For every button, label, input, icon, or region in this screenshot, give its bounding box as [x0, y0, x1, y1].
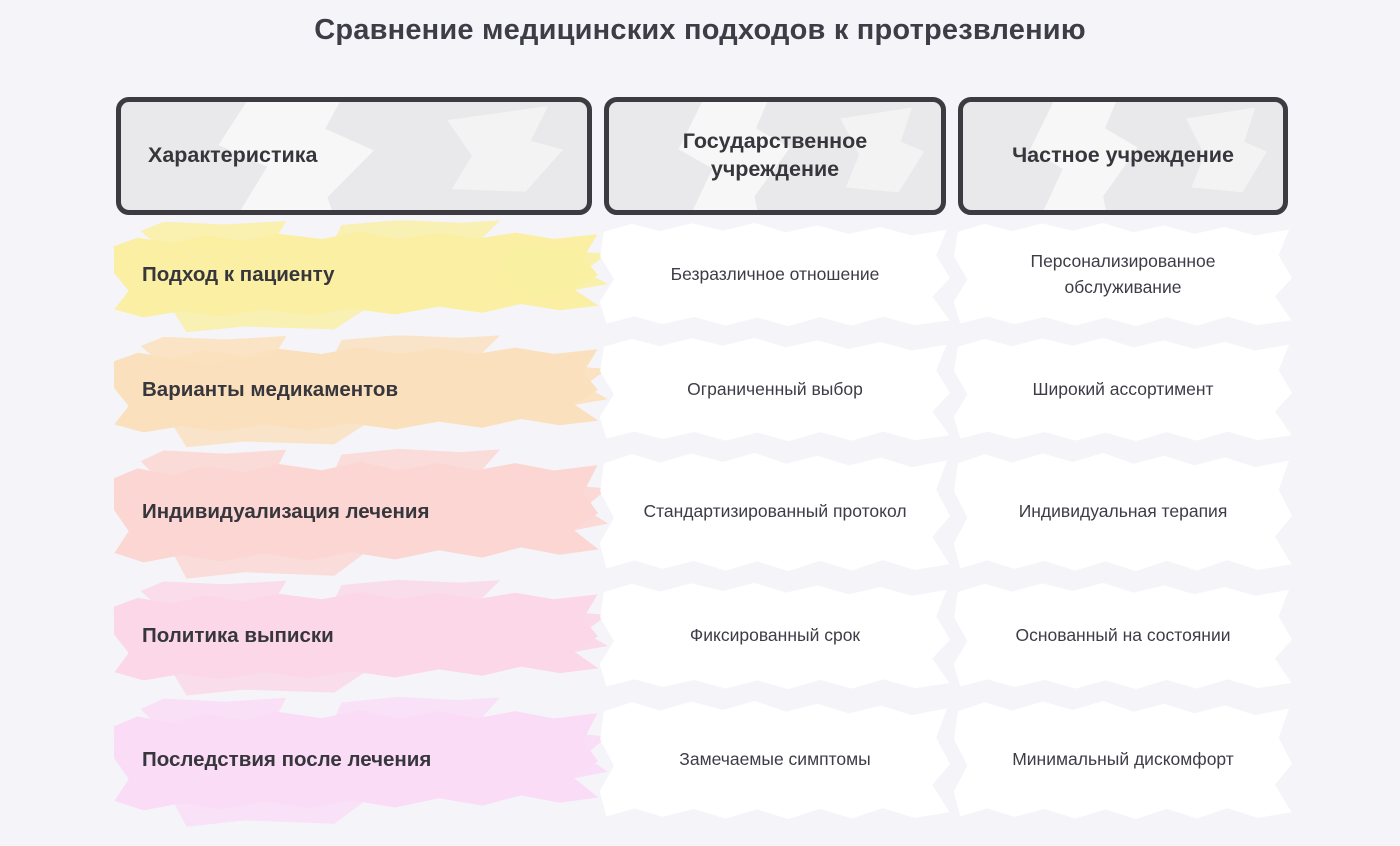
cell-private: Минимальный дискомфорт	[958, 695, 1288, 825]
cell-private: Широкий ассортимент	[958, 332, 1288, 447]
cell-private-text: Минимальный дискомфорт	[998, 747, 1248, 772]
cell-private-text: Персонализированное обслуживание	[958, 249, 1288, 300]
table-row: Политика выписки Фиксированный срок Осно…	[116, 577, 1288, 695]
comparison-table: Характеристика Государственное учреждени…	[116, 97, 1288, 825]
column-header-public-label: Государственное учреждение	[627, 128, 923, 183]
table-row: Индивидуализация лечения Стандартизирова…	[116, 447, 1288, 577]
cell-public-text: Фиксированный срок	[676, 623, 874, 648]
row-label: Варианты медикаментов	[112, 376, 598, 403]
cell-public: Стандартизированный протокол	[604, 447, 946, 577]
row-label-cell: Политика выписки	[112, 577, 598, 695]
cell-public-text: Ограниченный выбор	[673, 377, 877, 402]
row-label-cell: Подход к пациенту	[112, 217, 598, 332]
cell-private: Основанный на состоянии	[958, 577, 1288, 695]
table-row: Варианты медикаментов Ограниченный выбор…	[116, 332, 1288, 447]
cell-private: Персонализированное обслуживание	[958, 217, 1288, 332]
cell-public: Замечаемые симптомы	[604, 695, 946, 825]
cell-public: Ограниченный выбор	[604, 332, 946, 447]
row-label-cell: Индивидуализация лечения	[112, 447, 598, 577]
cell-public-text: Безразличное отношение	[657, 262, 894, 287]
row-label: Подход к пациенту	[112, 261, 598, 288]
row-label-cell: Последствия после лечения	[112, 695, 598, 825]
cell-public-text: Замечаемые симптомы	[665, 747, 884, 772]
row-label: Политика выписки	[112, 622, 598, 649]
table-row: Последствия после лечения Замечаемые сим…	[116, 695, 1288, 825]
cell-public-text: Стандартизированный протокол	[629, 499, 920, 524]
cell-private-text: Широкий ассортимент	[1018, 377, 1227, 402]
column-header-private-label: Частное учреждение	[981, 142, 1265, 170]
row-label-cell: Варианты медикаментов	[112, 332, 598, 447]
page-title: Сравнение медицинских подходов к протрез…	[0, 14, 1400, 47]
cell-private-text: Индивидуальная терапия	[1005, 499, 1242, 524]
table-row: Подход к пациенту Безразличное отношение…	[116, 217, 1288, 332]
column-header-private: Частное учреждение	[958, 97, 1288, 215]
row-label: Последствия после лечения	[112, 746, 598, 773]
cell-private: Индивидуальная терапия	[958, 447, 1288, 577]
table-header-row: Характеристика Государственное учреждени…	[116, 97, 1288, 217]
cell-private-text: Основанный на состоянии	[1001, 623, 1244, 648]
column-header-feature: Характеристика	[116, 97, 592, 215]
column-header-public: Государственное учреждение	[604, 97, 946, 215]
cell-public: Фиксированный срок	[604, 577, 946, 695]
column-header-feature-label: Характеристика	[148, 142, 560, 170]
cell-public: Безразличное отношение	[604, 217, 946, 332]
row-label: Индивидуализация лечения	[112, 498, 598, 525]
